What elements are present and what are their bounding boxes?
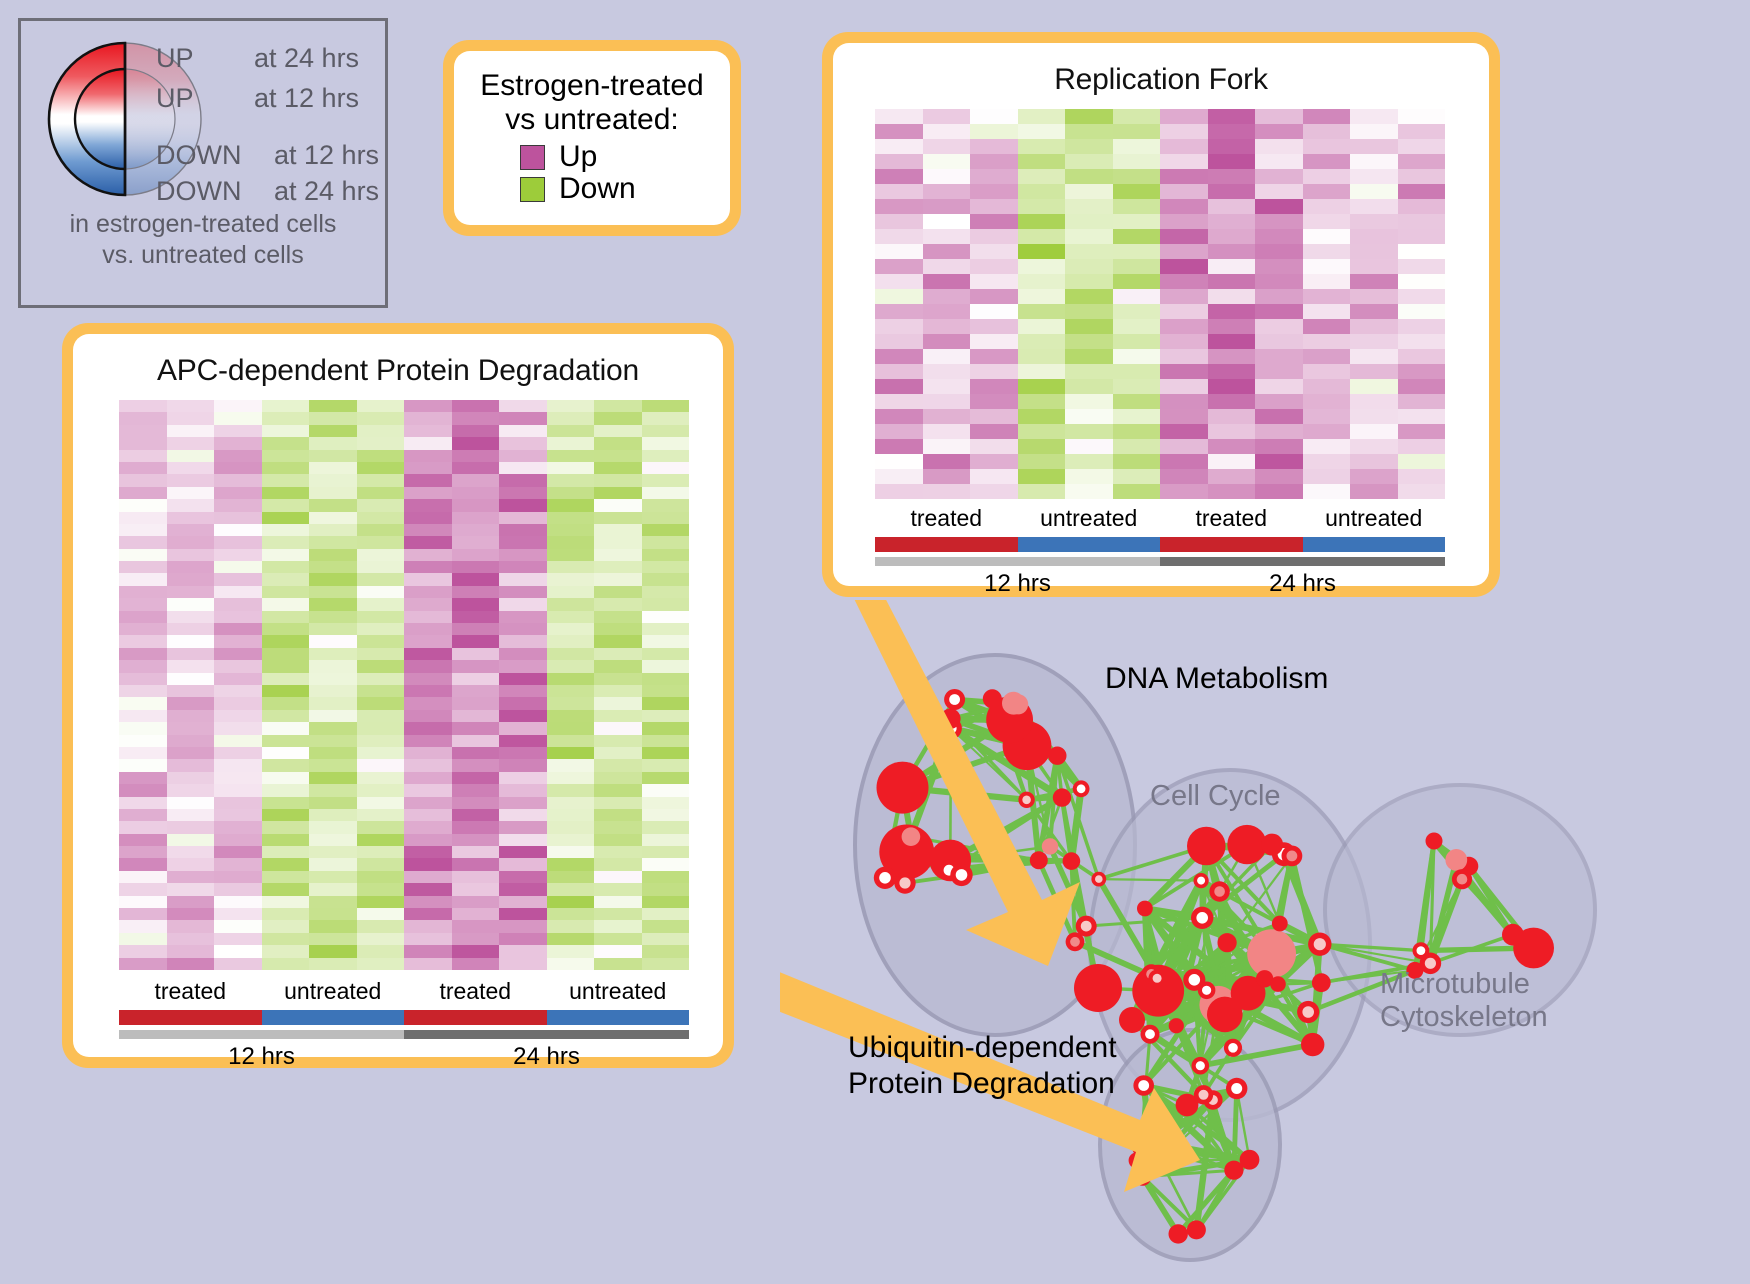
cluster-label-ubiquitin-dependent-protein-degradation: Ubiquitin-dependent Protein Degradation	[848, 1030, 1117, 1102]
group-label-untreated-12h: untreated	[1018, 505, 1161, 532]
treatment-bar-treated-12h	[875, 537, 1018, 552]
group-label-treated-12h: treated	[875, 505, 1018, 532]
estrogen-legend-panel: Estrogen-treated vs untreated: Up Down	[443, 40, 741, 236]
time-label-12h: 12 hrs	[875, 570, 1160, 598]
group-label-treated-24h: treated	[404, 978, 547, 1005]
time-label-24h: 24 hrs	[404, 1043, 689, 1071]
treatment-bar-treated-24h	[1160, 537, 1303, 552]
group-label-untreated-12h: untreated	[262, 978, 405, 1005]
time-bar-24h	[404, 1030, 689, 1039]
treatment-bar-untreated-12h	[1018, 537, 1161, 552]
treatment-bar-treated-12h	[119, 1010, 262, 1025]
estrogen-legend-title-line2: vs untreated:	[468, 103, 716, 137]
replication-fork-time-labels: 12 hrs 24 hrs	[875, 570, 1445, 598]
key-row-up-12h-time: at 12 hrs	[254, 83, 359, 114]
key-row-down-12h-direction: DOWN	[156, 140, 241, 171]
cluster-label-microtubule-cytoskeleton: Microtubule Cytoskeleton	[1380, 968, 1548, 1035]
replication-fork-time-bar	[875, 557, 1445, 566]
apc-degradation-heatmap	[119, 400, 689, 970]
legend-item-down: Down	[520, 174, 716, 204]
legend-item-up: Up	[520, 142, 716, 172]
time-bar-12h	[875, 557, 1160, 566]
estrogen-legend-title-line1: Estrogen-treated	[468, 69, 716, 103]
treatment-bar-untreated-24h	[547, 1010, 690, 1025]
apc-degradation-title: APC-dependent Protein Degradation	[73, 334, 723, 388]
apc-degradation-treatment-bar	[119, 1010, 689, 1025]
key-row-up-24h-direction: UP	[156, 43, 194, 74]
time-bar-12h	[119, 1030, 404, 1039]
color-key-caption-line2: vs. untreated cells	[21, 240, 385, 271]
replication-fork-panel: Replication Fork treated untreated treat…	[822, 32, 1500, 597]
estrogen-legend-inner: Estrogen-treated vs untreated: Up Down	[454, 51, 730, 225]
figure-canvas: UP at 24 hrs UP at 12 hrs DOWN at 12 hrs…	[0, 0, 1750, 1279]
down-swatch-icon	[520, 177, 545, 202]
apc-degradation-time-bar	[119, 1030, 689, 1039]
replication-fork-inner: Replication Fork treated untreated treat…	[833, 43, 1489, 586]
treatment-bar-untreated-24h	[1303, 537, 1446, 552]
time-label-24h: 24 hrs	[1160, 570, 1445, 598]
key-row-up-12h-direction: UP	[156, 83, 194, 114]
treatment-bar-untreated-12h	[262, 1010, 405, 1025]
replication-fork-heatmap	[875, 109, 1445, 499]
color-key-caption: in estrogen-treated cells vs. untreated …	[21, 209, 385, 272]
apc-degradation-panel: APC-dependent Protein Degradation treate…	[62, 323, 734, 1068]
group-label-untreated-24h: untreated	[1303, 505, 1446, 532]
time-bar-24h	[1160, 557, 1445, 566]
replication-fork-title: Replication Fork	[833, 43, 1489, 97]
treatment-bar-treated-24h	[404, 1010, 547, 1025]
time-label-12h: 12 hrs	[119, 1043, 404, 1071]
up-swatch-icon	[520, 145, 545, 170]
replication-fork-group-labels: treated untreated treated untreated	[875, 505, 1445, 532]
group-label-untreated-24h: untreated	[547, 978, 690, 1005]
legend-item-up-label: Up	[559, 142, 597, 172]
apc-degradation-inner: APC-dependent Protein Degradation treate…	[73, 334, 723, 1057]
pathway-network-diagram: DNA Metabolism Cell Cycle Microtubule Cy…	[780, 600, 1750, 1279]
heatmap-grid	[875, 109, 1445, 499]
color-key-caption-line1: in estrogen-treated cells	[21, 209, 385, 240]
apc-degradation-time-labels: 12 hrs 24 hrs	[119, 1043, 689, 1071]
heatmap-grid	[119, 400, 689, 970]
key-row-down-24h-time: at 24 hrs	[274, 176, 379, 207]
group-label-treated-24h: treated	[1160, 505, 1303, 532]
key-row-up-24h-time: at 24 hrs	[254, 43, 359, 74]
apc-degradation-group-labels: treated untreated treated untreated	[119, 978, 689, 1005]
replication-fork-treatment-bar	[875, 537, 1445, 552]
color-key-box: UP at 24 hrs UP at 12 hrs DOWN at 12 hrs…	[18, 18, 388, 308]
estrogen-legend-items: Up Down	[468, 142, 716, 204]
estrogen-legend-title: Estrogen-treated vs untreated:	[468, 69, 716, 136]
legend-item-down-label: Down	[559, 174, 636, 204]
key-row-down-12h-time: at 12 hrs	[274, 140, 379, 171]
group-label-treated-12h: treated	[119, 978, 262, 1005]
cluster-label-cell-cycle: Cell Cycle	[1150, 780, 1281, 813]
key-row-down-24h-direction: DOWN	[156, 176, 241, 207]
network-svg	[780, 600, 1750, 1279]
cluster-label-dna-metabolism: DNA Metabolism	[1105, 662, 1328, 696]
